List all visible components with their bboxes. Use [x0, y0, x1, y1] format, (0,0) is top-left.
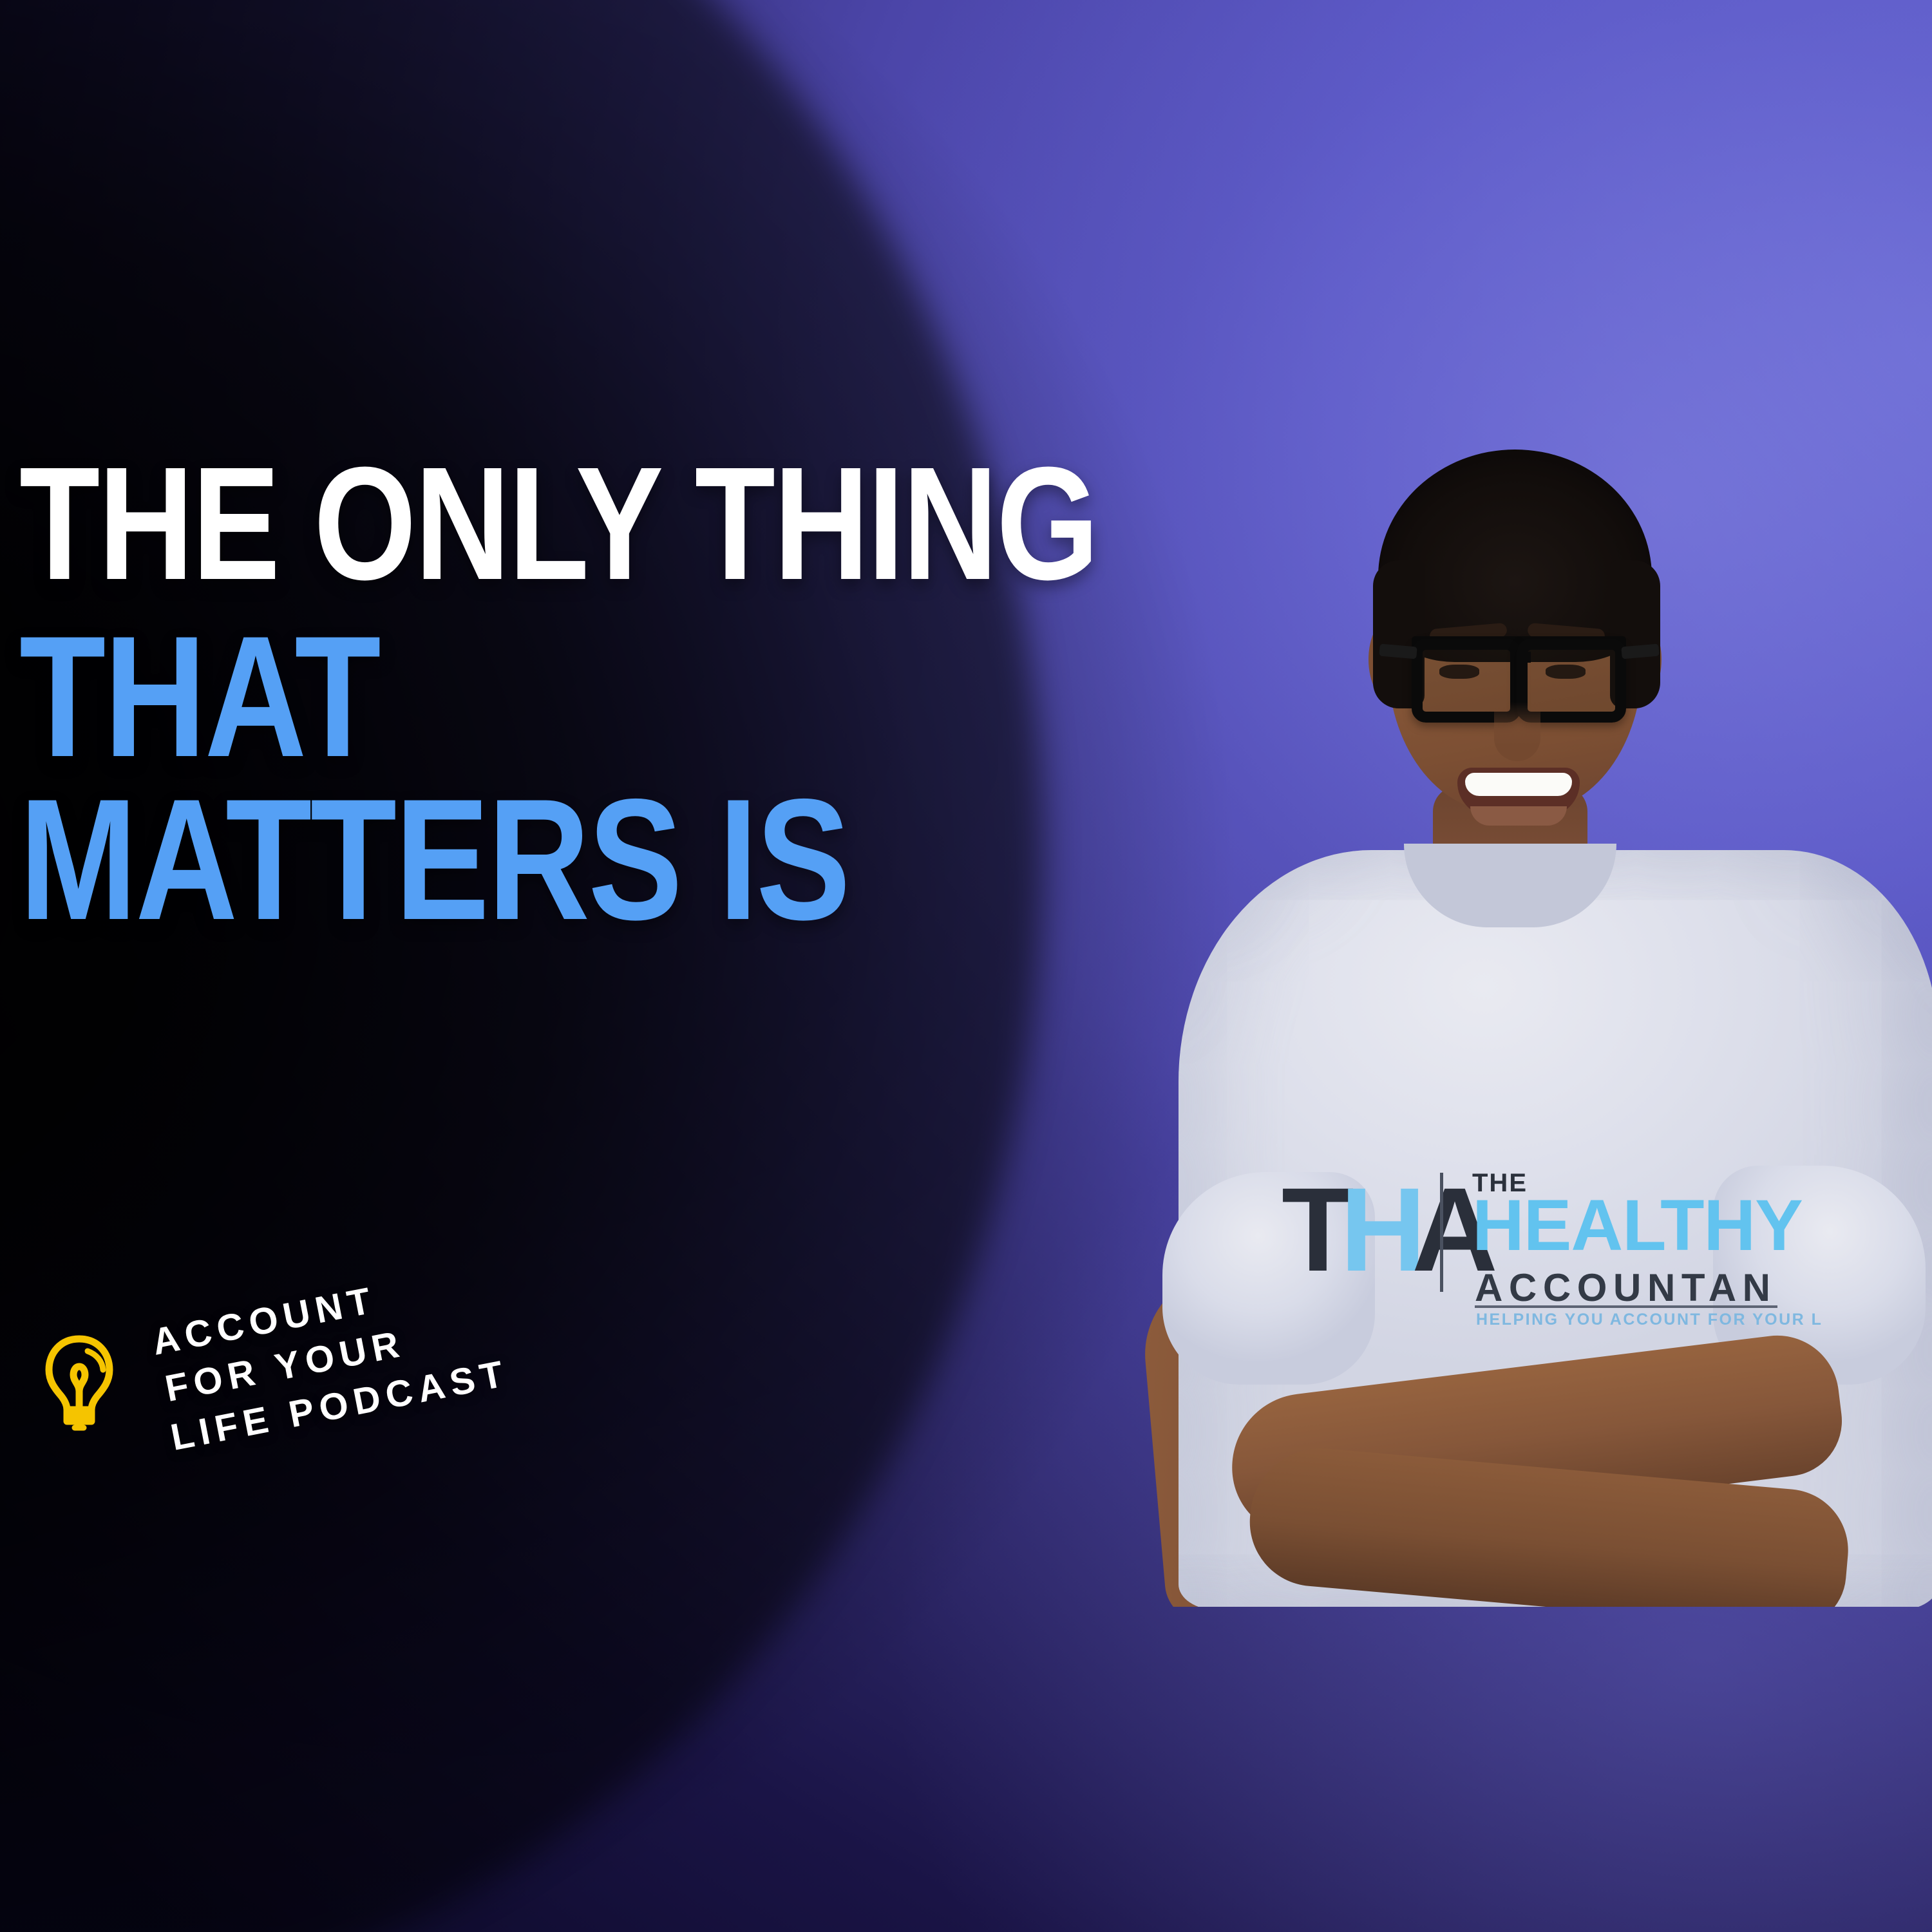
headline-line-2: THAT: [19, 619, 1181, 774]
headline-line-3: MATTERS IS: [19, 782, 1181, 937]
logo-rule: [1475, 1305, 1777, 1308]
logo-divider: [1440, 1173, 1443, 1292]
logo-tagline: HELPING YOU ACCOUNT FOR YOUR L: [1476, 1311, 1823, 1329]
nose: [1494, 702, 1540, 761]
headline-line-1: THE ONLY THING: [19, 451, 1181, 596]
glasses-bridge: [1518, 652, 1531, 663]
podcast-cover-art: THE ONLY THING THAT MATTERS IS THA THE H…: [0, 0, 1932, 1932]
teeth: [1465, 773, 1572, 796]
host-portrait: THA THE HEALTHY ACCOUNTAN HELPING YOU AC…: [1095, 399, 1932, 1607]
logo-monogram: THA: [1282, 1169, 1420, 1298]
lower-lip: [1470, 806, 1567, 826]
tshirt-logo: THA THE HEALTHY ACCOUNTAN HELPING YOU AC…: [1282, 1169, 1797, 1317]
podcast-branding: ACCOUNT FOR YOUR LIFE PODCAST: [26, 1314, 670, 1533]
logo-accountant: ACCOUNTAN: [1475, 1265, 1777, 1310]
lightbulb-icon: [37, 1330, 121, 1433]
logo-healthy: HEALTHY: [1472, 1189, 1803, 1262]
